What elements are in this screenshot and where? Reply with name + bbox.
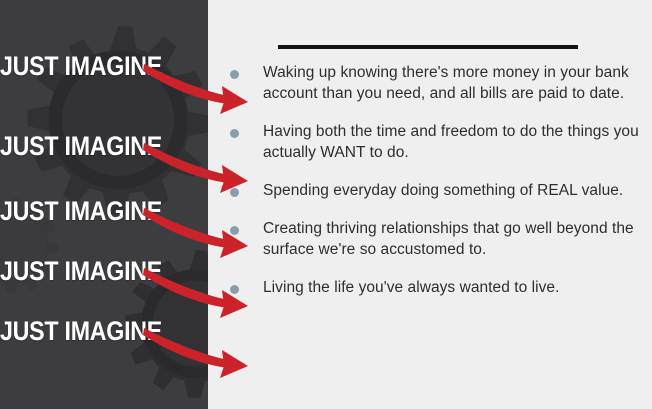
headline-just-imagine-3: JUST IMAGINE bbox=[0, 198, 162, 225]
list-item-label: Spending everyday doing something of REA… bbox=[263, 180, 650, 201]
list-item: Spending everyday doing something of REA… bbox=[230, 180, 650, 201]
headline-just-imagine-1: JUST IMAGINE bbox=[0, 53, 162, 80]
list-item: Having both the time and freedom to do t… bbox=[230, 121, 650, 163]
list-item-label: Having both the time and freedom to do t… bbox=[263, 121, 650, 163]
benefits-bullet-list: Waking up knowing there's more money in … bbox=[230, 62, 650, 315]
bullet-dot-icon bbox=[230, 285, 239, 294]
bullet-dot-icon bbox=[230, 188, 239, 197]
list-item-label: Creating thriving relationships that go … bbox=[263, 218, 650, 260]
headline-just-imagine-2: JUST IMAGINE bbox=[0, 133, 162, 160]
list-item: Creating thriving relationships that go … bbox=[230, 218, 650, 260]
slide-canvas: JUST IMAGINE JUST IMAGINE JUST IMAGINE J… bbox=[0, 0, 652, 409]
list-item-label: Living the life you've always wanted to … bbox=[263, 277, 650, 298]
left-dark-panel: JUST IMAGINE JUST IMAGINE JUST IMAGINE J… bbox=[0, 0, 208, 409]
list-item: Waking up knowing there's more money in … bbox=[230, 62, 650, 104]
right-content-panel: Waking up knowing there's more money in … bbox=[208, 0, 652, 409]
headline-stack: JUST IMAGINE JUST IMAGINE JUST IMAGINE J… bbox=[0, 0, 208, 409]
headline-just-imagine-4: JUST IMAGINE bbox=[0, 258, 162, 285]
bullet-dot-icon bbox=[230, 226, 239, 235]
list-item: Living the life you've always wanted to … bbox=[230, 277, 650, 298]
bullet-dot-icon bbox=[230, 70, 239, 79]
list-item-label: Waking up knowing there's more money in … bbox=[263, 62, 650, 104]
headline-just-imagine-5: JUST IMAGINE bbox=[0, 318, 162, 345]
bullet-dot-icon bbox=[230, 129, 239, 138]
title-divider-rule bbox=[278, 45, 578, 49]
